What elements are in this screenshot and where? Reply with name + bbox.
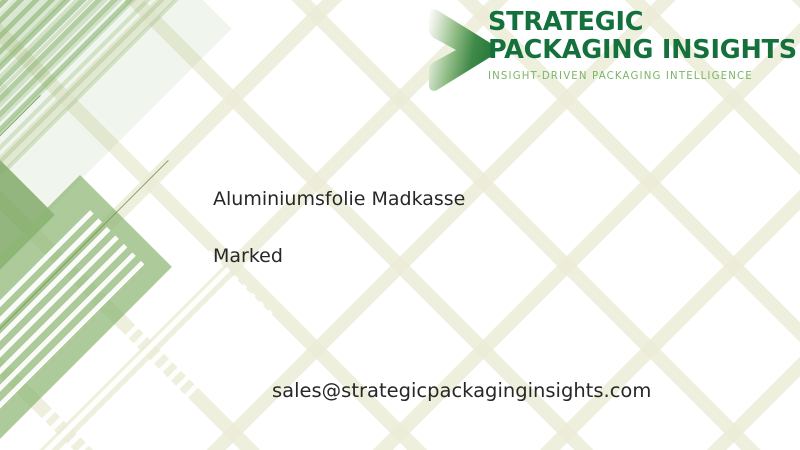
title-slide: STRATEGIC PACKAGING INSIGHTS INSIGHT-DRI… (0, 0, 800, 450)
slide-title-line-1: Aluminiumsfolie Madkasse (213, 188, 465, 210)
slide-content: Aluminiumsfolie Madkasse Marked sales@st… (0, 0, 800, 450)
contact-email[interactable]: sales@strategicpackaginginsights.com (272, 379, 651, 402)
slide-title-line-2: Marked (213, 245, 283, 267)
